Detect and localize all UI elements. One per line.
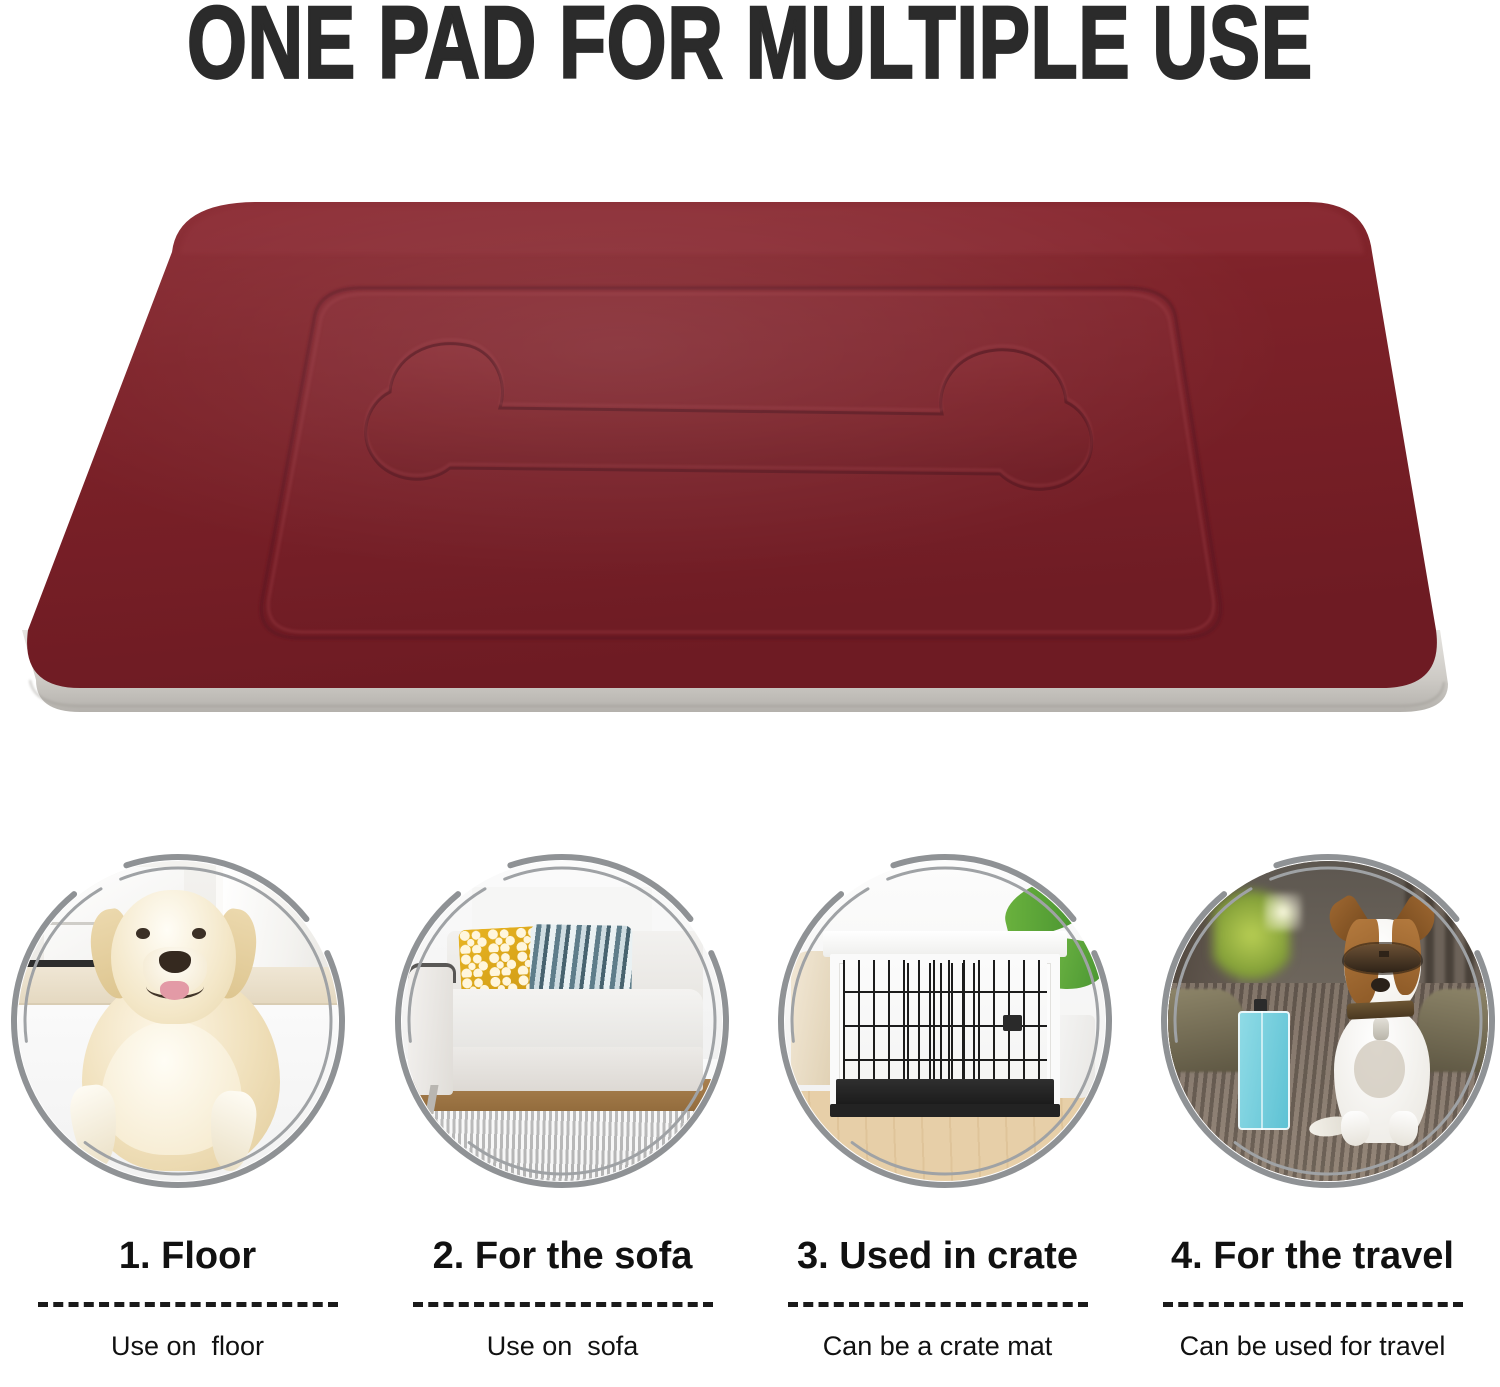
use-case-photo-3[interactable] bbox=[769, 845, 1121, 1197]
caption-title: 3. Used in crate bbox=[750, 1232, 1125, 1280]
caption-divider bbox=[413, 1302, 713, 1307]
caption-subtitle: Can be used for travel bbox=[1125, 1329, 1500, 1363]
use-case-photo-2[interactable] bbox=[386, 845, 738, 1197]
use-case-photo-row bbox=[0, 845, 1500, 1197]
caption-divider bbox=[1163, 1302, 1463, 1307]
caption-subtitle: Use on sofa bbox=[375, 1329, 750, 1363]
dog-pad-illustration bbox=[0, 160, 1500, 760]
caption-block-3: 3. Used in crate Can be a crate mat bbox=[750, 1232, 1125, 1387]
product-hero-image bbox=[0, 160, 1500, 760]
caption-title: 2. For the sofa bbox=[375, 1232, 750, 1280]
page-title: ONE PAD FOR MULTIPLE USE bbox=[150, 0, 1350, 89]
use-case-photo-4[interactable] bbox=[1152, 845, 1500, 1197]
use-case-photo-1[interactable] bbox=[2, 845, 354, 1197]
caption-block-1: 1. Floor Use on floor bbox=[0, 1232, 375, 1387]
jack-russell-with-sunglasses-and-suitcase-photo bbox=[1168, 861, 1488, 1181]
gray-sofa-with-pillows-photo bbox=[402, 861, 722, 1181]
caption-divider bbox=[38, 1302, 338, 1307]
white-wooden-dog-crate-photo bbox=[785, 861, 1105, 1181]
caption-title: 4. For the travel bbox=[1125, 1232, 1500, 1280]
caption-subtitle: Can be a crate mat bbox=[750, 1329, 1125, 1363]
caption-divider bbox=[788, 1302, 1088, 1307]
caption-title: 1. Floor bbox=[0, 1232, 375, 1280]
caption-subtitle: Use on floor bbox=[0, 1329, 375, 1363]
caption-block-4: 4. For the travel Can be used for travel bbox=[1125, 1232, 1500, 1387]
golden-retriever-on-floor-photo bbox=[18, 861, 338, 1181]
use-case-caption-row: 1. Floor Use on floor 2. For the sofa Us… bbox=[0, 1232, 1500, 1387]
caption-block-2: 2. For the sofa Use on sofa bbox=[375, 1232, 750, 1387]
product-infographic-page: ONE PAD FOR MULTIPLE USE bbox=[0, 0, 1500, 1387]
